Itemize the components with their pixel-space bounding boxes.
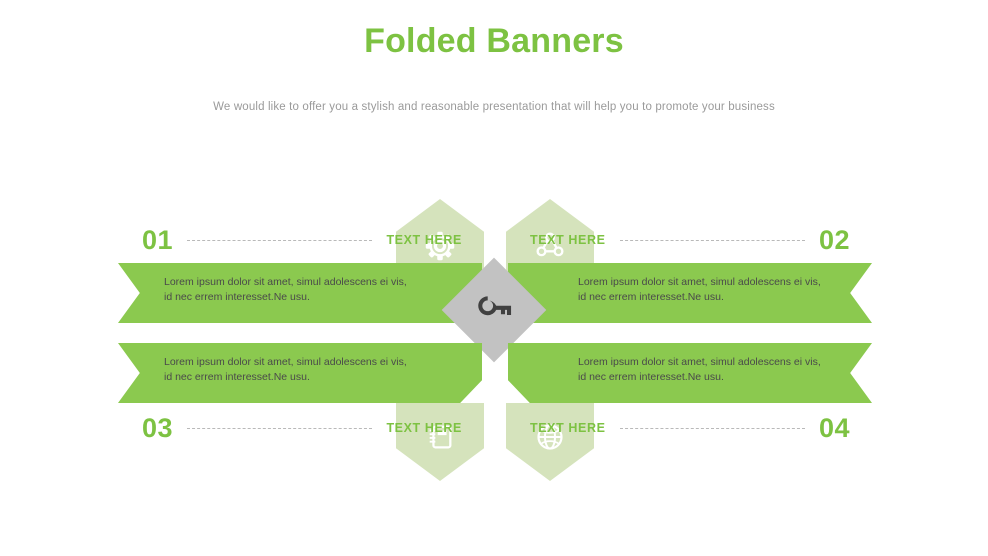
page-title: Folded Banners: [0, 22, 988, 61]
item-number-01: 01: [142, 225, 173, 256]
label-row-01: 01 TEXT HERE: [142, 223, 462, 257]
banner-body-01: Lorem ipsum dolor sit amet, simul adoles…: [164, 275, 414, 305]
banner-body-02: Lorem ipsum dolor sit amet, simul adoles…: [578, 275, 828, 305]
label-row-04: TEXT HERE 04: [530, 411, 850, 445]
folded-banners-diagram: 01 TEXT HERE Lorem ipsum dolor sit amet,…: [0, 185, 988, 475]
item-label-02: TEXT HERE: [530, 233, 606, 247]
key-icon: [457, 273, 531, 347]
banner-01[interactable]: Lorem ipsum dolor sit amet, simul adoles…: [118, 263, 482, 323]
dashed-connector-04: [620, 428, 805, 429]
dashed-connector-03: [187, 428, 372, 429]
dashed-connector-02: [620, 240, 805, 241]
banner-04[interactable]: Lorem ipsum dolor sit amet, simul adoles…: [508, 343, 872, 403]
banner-02[interactable]: Lorem ipsum dolor sit amet, simul adoles…: [508, 263, 872, 323]
banner-body-04: Lorem ipsum dolor sit amet, simul adoles…: [578, 355, 828, 385]
item-number-02: 02: [819, 225, 850, 256]
dashed-connector-01: [187, 240, 372, 241]
item-number-03: 03: [142, 413, 173, 444]
label-row-03: 03 TEXT HERE: [142, 411, 462, 445]
banner-03[interactable]: Lorem ipsum dolor sit amet, simul adoles…: [118, 343, 482, 403]
label-row-02: TEXT HERE 02: [530, 223, 850, 257]
item-label-03: TEXT HERE: [386, 421, 462, 435]
item-label-01: TEXT HERE: [386, 233, 462, 247]
item-number-04: 04: [819, 413, 850, 444]
banner-body-03: Lorem ipsum dolor sit amet, simul adoles…: [164, 355, 414, 385]
page-subtitle: We would like to offer you a stylish and…: [0, 101, 988, 113]
item-label-04: TEXT HERE: [530, 421, 606, 435]
